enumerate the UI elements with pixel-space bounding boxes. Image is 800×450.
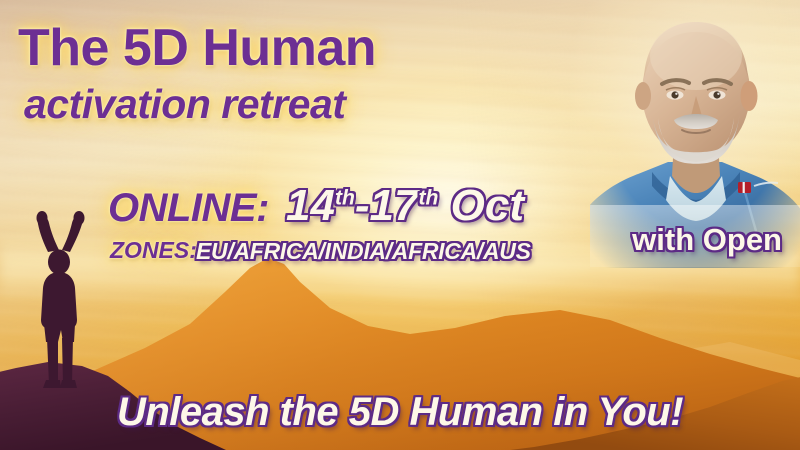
zones-label: ZONES:: [110, 239, 197, 262]
person-arms-raised-silhouette-icon: [8, 208, 113, 390]
date-day-start: 14: [286, 181, 335, 230]
page-title-line1: The 5D Human: [18, 22, 376, 74]
date-suffix-start: th: [335, 186, 355, 209]
date-suffix-end: th: [419, 186, 439, 209]
format-label: ONLINE:: [108, 188, 269, 228]
event-date: 14th-17th Oct: [286, 184, 524, 228]
tagline: Unleash the 5D Human in You!: [117, 392, 683, 432]
promo-banner: The 5D Human activation retreat ONLINE: …: [0, 0, 800, 450]
page-title-line2: activation retreat: [24, 84, 345, 125]
date-day-end: 17: [370, 181, 419, 230]
presenter-credit: with Open: [632, 224, 782, 255]
zones-value: EU/AFRICA/INDIA/AFRICA/AUS: [196, 240, 531, 263]
date-month: Oct: [451, 181, 524, 230]
date-separator: -: [355, 181, 370, 230]
